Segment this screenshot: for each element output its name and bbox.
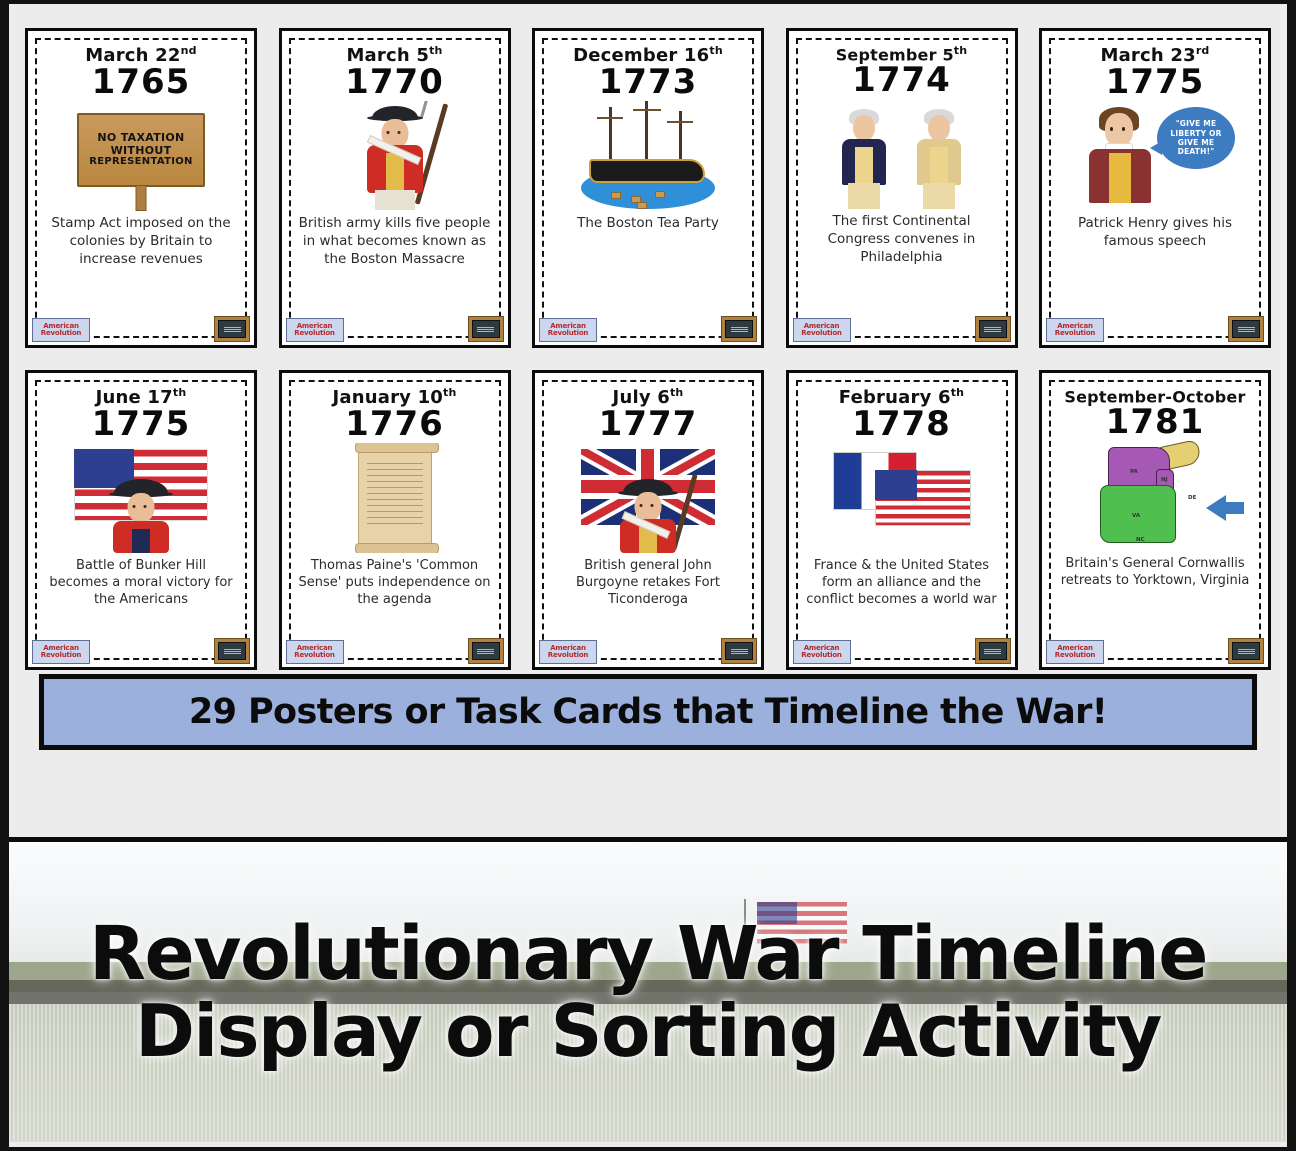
usa-flag-canton [875, 470, 917, 500]
card-inner-border: July 6th 1777 [542, 380, 754, 660]
chalkboard-icon [725, 320, 753, 338]
card-inner-border: January 10th 1776 Thomas Paine's 'Common… [289, 380, 501, 660]
tea-ship-icon [573, 101, 723, 211]
card-illustration-british-soldier [297, 101, 493, 211]
card-inner-border: February 6th 1778 France & the United St… [796, 380, 1008, 660]
chalkboard-icon [218, 320, 246, 338]
american-revolution-logo: American Revolution [286, 318, 344, 342]
chalkboard-logo-icon [721, 638, 757, 664]
map-label-nc: NC [1136, 537, 1145, 543]
washington-figure-icon [834, 107, 894, 209]
title-line-1: Revolutionary War Timeline [89, 917, 1207, 991]
founding-fathers-icon [827, 99, 977, 209]
card-row-1: March 22nd 1765 NO TAXATION WITHOUT REPR… [25, 28, 1271, 348]
logo-line-2: Revolution [1055, 330, 1095, 337]
timeline-card-1781[interactable]: September-October 1781 PA NJ DE VA N [1039, 370, 1271, 670]
chalkboard-icon [472, 642, 500, 660]
logo-line-2: Revolution [41, 330, 81, 337]
american-revolution-logo: American Revolution [793, 640, 851, 664]
card-year: 1776 [345, 407, 444, 441]
card-inner-border: March 23rd 1775 "GIVE ME LIBERTY OR GIVE… [1049, 38, 1261, 338]
card-footer: American Revolution [793, 316, 1011, 342]
card-illustration-alliance-flags [804, 443, 1000, 553]
chalkboard-logo-icon [214, 638, 250, 664]
card-footer: American Revolution [1046, 638, 1264, 664]
card-year: 1770 [345, 65, 444, 99]
card-description: The first Continental Congress convenes … [804, 209, 1000, 332]
american-revolution-logo: American Revolution [32, 318, 90, 342]
card-inner-border: September 5th 1774 [796, 38, 1008, 338]
chalkboard-logo-icon [214, 316, 250, 342]
british-general-icon [605, 479, 691, 553]
card-year: 1778 [852, 407, 951, 441]
sign-line-2: WITHOUT [111, 145, 172, 157]
card-description: British army kills five people in what b… [297, 211, 493, 332]
american-revolution-logo: American Revolution [539, 318, 597, 342]
quote-line-2: LIBERTY OR [1170, 129, 1221, 138]
logo-line-2: Revolution [801, 330, 841, 337]
card-illustration-founding-fathers [804, 99, 1000, 209]
quote-line-1: "GIVE ME [1176, 119, 1217, 128]
quote-line-3: GIVE ME [1178, 138, 1214, 147]
speech-bubble: "GIVE ME LIBERTY OR GIVE ME DEATH!" [1157, 107, 1235, 169]
pamphlet-scroll-icon [358, 446, 432, 550]
map-label-nj: NJ [1161, 477, 1168, 483]
american-revolution-logo: American Revolution [1046, 640, 1104, 664]
patrick-henry-icon: "GIVE ME LIBERTY OR GIVE ME DEATH!" [1075, 101, 1235, 211]
no-taxation-sign-icon: NO TAXATION WITHOUT REPRESENTATION [77, 113, 205, 187]
timeline-card-1778[interactable]: February 6th 1778 France & the United St… [786, 370, 1018, 670]
timeline-card-1775-march[interactable]: March 23rd 1775 "GIVE ME LIBERTY OR GIVE… [1039, 28, 1271, 348]
timeline-cards-area: March 22nd 1765 NO TAXATION WITHOUT REPR… [9, 4, 1287, 837]
chalkboard-icon [725, 642, 753, 660]
card-footer: American Revolution [32, 316, 250, 342]
yorktown-arrow-icon [1206, 495, 1226, 521]
map-label-de: DE [1188, 495, 1196, 501]
chalkboard-icon [1232, 642, 1260, 660]
delegate-figure-icon [909, 107, 969, 209]
card-illustration-tea-ship [550, 101, 746, 211]
chalkboard-icon [979, 320, 1007, 338]
logo-line-2: Revolution [41, 652, 81, 659]
card-year: 1775 [92, 407, 191, 441]
card-description: Stamp Act imposed on the colonies by Bri… [43, 211, 239, 332]
card-year: 1773 [599, 65, 698, 99]
card-row-2: June 17th 1775 [25, 370, 1271, 670]
card-footer: American Revolution [286, 316, 504, 342]
logo-line-2: Revolution [294, 652, 334, 659]
chalkboard-logo-icon [1228, 638, 1264, 664]
logo-line-2: Revolution [294, 330, 334, 337]
card-year: 1765 [92, 65, 191, 99]
timeline-card-1777[interactable]: July 6th 1777 [532, 370, 764, 670]
chalkboard-logo-icon [468, 638, 504, 664]
american-revolution-logo: American Revolution [1046, 318, 1104, 342]
sign-line-1: NO TAXATION [97, 132, 184, 144]
banner-wrap: 29 Posters or Task Cards that Timeline t… [39, 670, 1257, 750]
chalkboard-logo-icon [1228, 316, 1264, 342]
timeline-card-1775-june[interactable]: June 17th 1775 [25, 370, 257, 670]
card-footer: American Revolution [539, 316, 757, 342]
chalkboard-icon [979, 642, 1007, 660]
hero-title-block: Revolutionary War Timeline Display or So… [9, 842, 1287, 1142]
map-label-pa: PA [1130, 469, 1138, 475]
logo-line-2: Revolution [548, 330, 588, 337]
american-revolution-logo: American Revolution [793, 318, 851, 342]
sign-post-icon [136, 185, 147, 211]
union-jack-soldier-icon [573, 443, 723, 553]
card-inner-border: June 17th 1775 [35, 380, 247, 660]
british-soldier-icon [352, 102, 438, 210]
timeline-card-1774[interactable]: September 5th 1774 [786, 28, 1018, 348]
us-flag-patriot-icon [66, 443, 216, 553]
card-footer: American Revolution [286, 638, 504, 664]
logo-line-2: Revolution [801, 652, 841, 659]
quote-line-4: DEATH!" [1178, 147, 1215, 156]
card-footer: American Revolution [793, 638, 1011, 664]
chalkboard-logo-icon [468, 316, 504, 342]
timeline-card-1773[interactable]: December 16th 1773 [532, 28, 764, 348]
logo-line-2: Revolution [548, 652, 588, 659]
card-year: 1775 [1106, 65, 1205, 99]
banner-text: 29 Posters or Task Cards that Timeline t… [189, 692, 1107, 732]
card-illustration-yorktown-map: PA NJ DE VA NC [1057, 441, 1253, 551]
chalkboard-icon [218, 642, 246, 660]
chalkboard-icon [1232, 320, 1260, 338]
card-inner-border: December 16th 1773 [542, 38, 754, 338]
american-revolution-logo: American Revolution [32, 640, 90, 664]
france-us-flags-icon [827, 446, 977, 550]
card-illustration-protest-sign: NO TAXATION WITHOUT REPRESENTATION [43, 101, 239, 211]
american-revolution-logo: American Revolution [286, 640, 344, 664]
map-label-va: VA [1132, 513, 1140, 519]
card-description: Patrick Henry gives his famous speech [1057, 211, 1253, 332]
card-illustration-bunker-hill [43, 443, 239, 553]
card-inner-border: March 22nd 1765 NO TAXATION WITHOUT REPR… [35, 38, 247, 338]
chalkboard-logo-icon [721, 316, 757, 342]
card-description: The Boston Tea Party [575, 211, 721, 332]
chalkboard-logo-icon [975, 638, 1011, 664]
title-hero: Revolutionary War Timeline Display or So… [9, 837, 1287, 1142]
card-inner-border: September-October 1781 PA NJ DE VA N [1049, 380, 1261, 660]
product-cover-page: March 22nd 1765 NO TAXATION WITHOUT REPR… [0, 0, 1296, 1151]
card-footer: American Revolution [539, 638, 757, 664]
card-footer: American Revolution [1046, 316, 1264, 342]
sign-line-3: REPRESENTATION [89, 157, 192, 168]
american-revolution-logo: American Revolution [539, 640, 597, 664]
chalkboard-icon [472, 320, 500, 338]
timeline-card-1770[interactable]: March 5th 1770 British army kills five p… [279, 28, 511, 348]
timeline-card-1765[interactable]: March 22nd 1765 NO TAXATION WITHOUT REPR… [25, 28, 257, 348]
card-year: 1774 [852, 63, 951, 97]
card-footer: American Revolution [32, 638, 250, 664]
card-illustration-patrick-henry: "GIVE ME LIBERTY OR GIVE ME DEATH!" [1057, 101, 1253, 211]
timeline-card-1776[interactable]: January 10th 1776 Thomas Paine's 'Common… [279, 370, 511, 670]
card-year: 1777 [599, 407, 698, 441]
patriot-soldier-icon [98, 479, 184, 553]
logo-line-2: Revolution [1055, 652, 1095, 659]
title-line-2: Display or Sorting Activity [135, 995, 1161, 1067]
colonies-map-icon: PA NJ DE VA NC [1090, 443, 1220, 549]
chalkboard-logo-icon [975, 316, 1011, 342]
product-count-banner: 29 Posters or Task Cards that Timeline t… [39, 674, 1257, 750]
card-inner-border: March 5th 1770 British army kills five p… [289, 38, 501, 338]
card-year: 1781 [1106, 405, 1205, 439]
card-illustration-common-sense [297, 443, 493, 553]
card-illustration-burgoyne [550, 443, 746, 553]
